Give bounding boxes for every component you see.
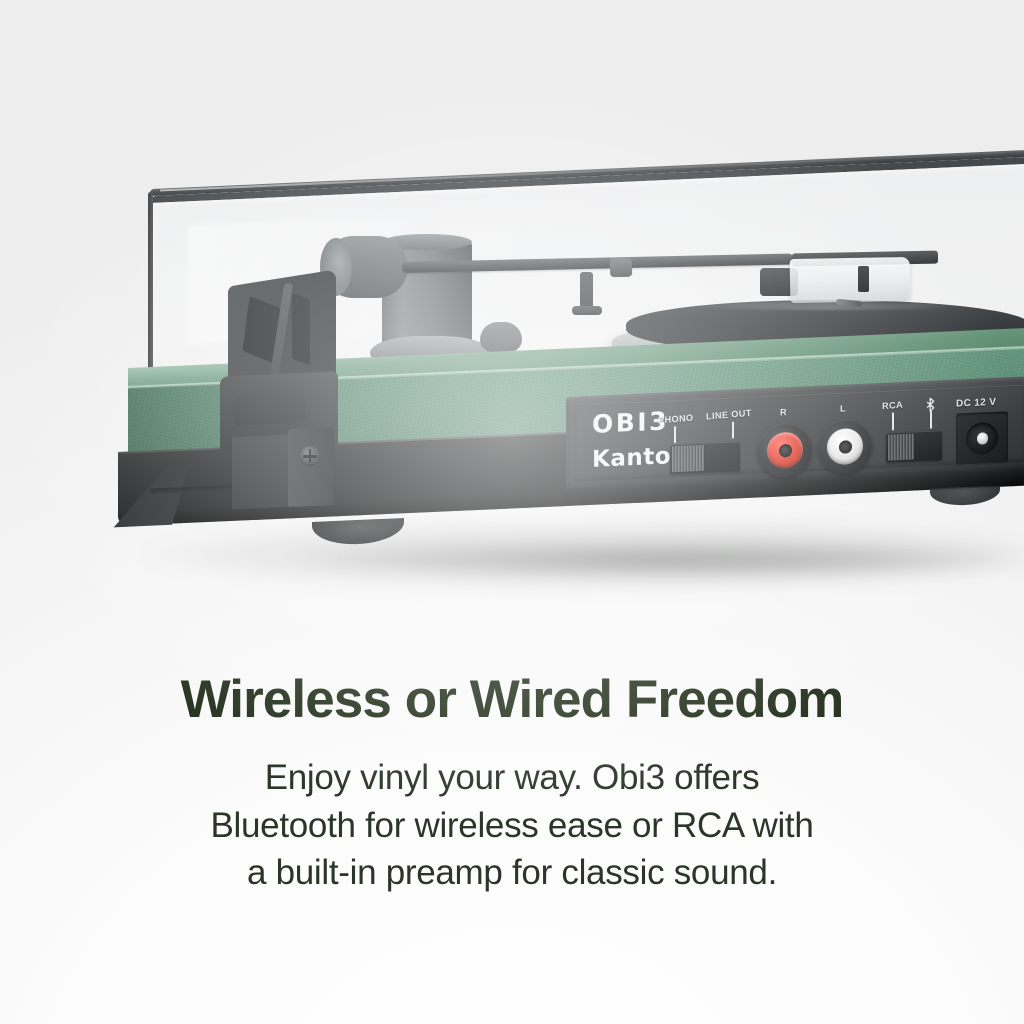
rca-left-hole	[839, 440, 852, 454]
product-marketing-slide: OBI3 Kanto PHONO LINE OUT R	[0, 0, 1024, 1024]
line-out-label: LINE OUT	[706, 408, 752, 422]
dc-power-jack[interactable]	[956, 411, 1008, 465]
tonearm-lift-lever	[580, 272, 593, 310]
output-mode-switch-knob[interactable]	[888, 434, 914, 461]
output-mode-switch[interactable]	[886, 430, 942, 462]
output-bluetooth-tick	[930, 411, 932, 429]
tonearm-collar	[610, 258, 632, 277]
line-out-tick	[732, 422, 734, 439]
phono-tick	[674, 426, 676, 443]
rca-left-label: L	[840, 404, 846, 414]
rca-right-ring	[767, 431, 803, 469]
body-copy-line-3: a built-in preamp for classic sound.	[0, 849, 1024, 897]
rca-left-ring	[827, 428, 863, 466]
hinge-tab	[234, 388, 306, 426]
output-rca-tick	[892, 412, 894, 430]
rca-right-label: R	[780, 407, 787, 417]
dust-cover-left-post	[148, 192, 153, 388]
rca-jack-right[interactable]	[758, 422, 812, 478]
io-panel-inset: OBI3 Kanto PHONO LINE OUT R	[574, 385, 1024, 482]
body-copy: Enjoy vinyl your way. Obi3 offers Blueto…	[0, 754, 1024, 897]
headline: Wireless or Wired Freedom	[0, 672, 1024, 728]
hinge-cutout-lower	[292, 293, 310, 366]
rca-right-hole	[779, 443, 792, 457]
brand-wordmark: Kanto	[592, 445, 671, 472]
phono-line-out-switch-knob[interactable]	[672, 445, 704, 472]
phono-line-out-switch[interactable]	[670, 441, 740, 474]
platter-mat-highlight	[689, 302, 964, 310]
product-contact-shadow	[300, 540, 1020, 580]
marketing-copy: Wireless or Wired Freedom Enjoy vinyl yo…	[0, 672, 1024, 897]
output-rca-label: RCA	[882, 400, 903, 412]
dc-jack-pin	[977, 432, 988, 444]
hinge-post	[288, 427, 334, 507]
dc-power-label: DC 12 V	[956, 397, 996, 410]
cartridge-body	[858, 266, 869, 292]
headshell	[790, 257, 911, 303]
body-copy-line-2: Bluetooth for wireless ease or RCA with	[0, 802, 1024, 850]
rubber-foot-rear	[930, 485, 1000, 506]
phono-label: PHONO	[658, 413, 694, 426]
tonearm-lift-rest	[572, 306, 602, 315]
dust-cover-hinge	[214, 278, 354, 488]
hinge-leg	[232, 435, 290, 510]
product-photo: OBI3 Kanto PHONO LINE OUT R	[0, 0, 1024, 660]
body-copy-line-1: Enjoy vinyl your way. Obi3 offers	[0, 754, 1024, 802]
hinge-screw	[300, 446, 320, 466]
dc-jack-barrel	[966, 422, 998, 455]
rca-jack-left[interactable]	[818, 418, 872, 474]
anti-skate-dial	[480, 322, 522, 352]
